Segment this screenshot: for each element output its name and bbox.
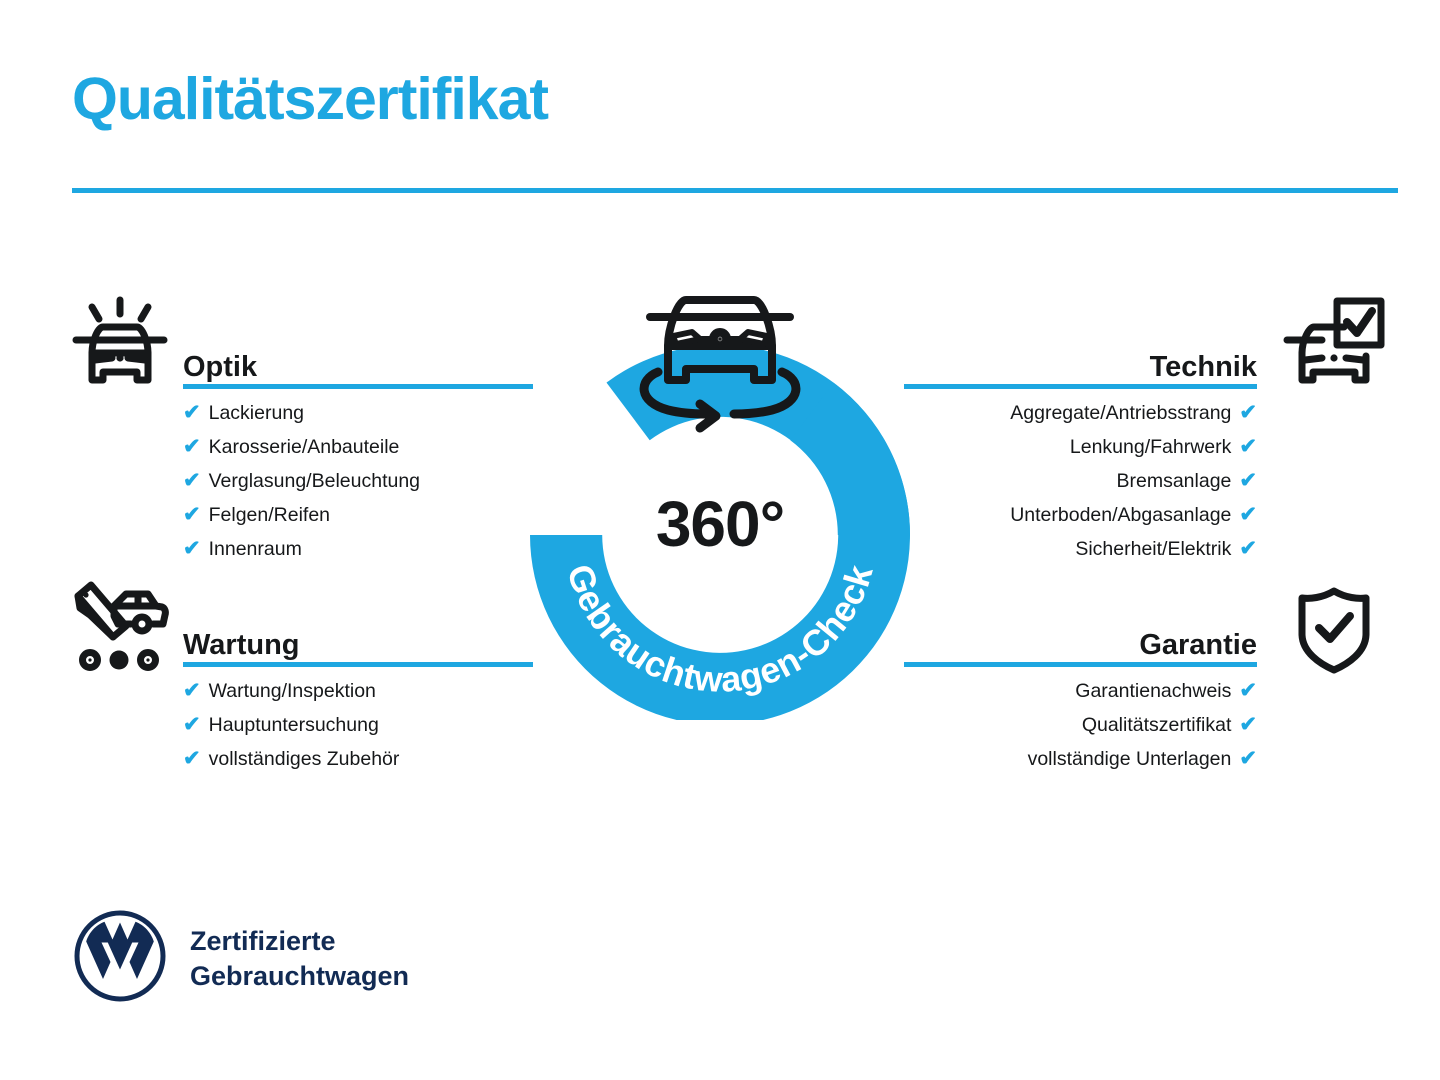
page-title: Qualitätszertifikat	[72, 70, 548, 129]
list-item-label: Hauptuntersuchung	[209, 714, 379, 737]
list-item: ✔Lackierung	[183, 402, 543, 436]
list-item: ✔Karosserie/Anbauteile	[183, 436, 543, 470]
car-service-pencil-icon	[68, 580, 172, 672]
list-item-label: Lackierung	[209, 402, 304, 425]
list-item: Bremsanlage✔	[897, 470, 1257, 504]
section-wartung: Wartung ✔Wartung/Inspektion ✔Hauptunters…	[183, 614, 543, 660]
list-item: Unterboden/Abgasanlage✔	[897, 504, 1257, 538]
list-item-label: vollständige Unterlagen	[1028, 748, 1232, 771]
list-item-label: Qualitätszertifikat	[1082, 714, 1232, 737]
list-item: Lenkung/Fahrwerk✔	[897, 436, 1257, 470]
list-item-label: Karosserie/Anbauteile	[209, 436, 400, 459]
check-icon: ✔	[183, 714, 201, 735]
section-garantie: Garantie Garantienachweis✔ Qualitätszert…	[897, 614, 1257, 660]
section-optik-title: Optik	[183, 353, 257, 382]
check-icon: ✔	[183, 504, 201, 525]
section-wartung-divider	[183, 662, 533, 667]
section-garantie-header: Garantie	[897, 614, 1257, 660]
check-icon: ✔	[1239, 504, 1257, 525]
footer-line-1: Zertifizierte	[190, 926, 336, 956]
list-item: Sicherheit/Elektrik✔	[897, 538, 1257, 572]
certificate-page: Qualitätszertifikat Optik ✔Lackierung ✔K…	[0, 0, 1440, 1080]
list-item-label: Garantienachweis	[1075, 680, 1231, 703]
list-item: Qualitätszertifikat✔	[897, 714, 1257, 748]
footer-brand-text: Zertifizierte Gebrauchtwagen	[190, 924, 409, 992]
check-icon: ✔	[1239, 748, 1257, 769]
section-garantie-divider	[904, 662, 1257, 667]
check-icon: ✔	[1239, 402, 1257, 423]
list-item: ✔vollständiges Zubehör	[183, 748, 543, 782]
check-icon: ✔	[183, 748, 201, 769]
list-item-label: vollständiges Zubehör	[209, 748, 400, 771]
list-item: ✔Wartung/Inspektion	[183, 680, 543, 714]
check-icon: ✔	[1239, 714, 1257, 735]
section-technik-divider	[904, 384, 1257, 389]
check-icon: ✔	[1239, 538, 1257, 559]
section-optik-list: ✔Lackierung ✔Karosserie/Anbauteile ✔Verg…	[183, 402, 543, 572]
check-icon: ✔	[183, 680, 201, 701]
section-garantie-list: Garantienachweis✔ Qualitätszertifikat✔ v…	[897, 680, 1257, 782]
list-item-label: Felgen/Reifen	[209, 504, 330, 527]
list-item-label: Wartung/Inspektion	[209, 680, 376, 703]
list-item: Garantienachweis✔	[897, 680, 1257, 714]
list-item-label: Lenkung/Fahrwerk	[1070, 436, 1232, 459]
section-optik-header: Optik	[183, 336, 543, 382]
list-item: Aggregate/Antriebsstrang✔	[897, 402, 1257, 436]
section-optik: Optik ✔Lackierung ✔Karosserie/Anbauteile…	[183, 336, 543, 382]
title-divider	[72, 188, 1398, 193]
list-item-label: Aggregate/Antriebsstrang	[1010, 402, 1231, 425]
check-icon: ✔	[1239, 470, 1257, 491]
footer-line-2: Gebrauchtwagen	[190, 961, 409, 991]
car-shine-icon	[68, 296, 172, 392]
list-item-label: Innenraum	[209, 538, 302, 561]
section-technik-title: Technik	[1150, 353, 1257, 382]
list-item: ✔Hauptuntersuchung	[183, 714, 543, 748]
list-item-label: Bremsanlage	[1116, 470, 1231, 493]
car-checkbox-icon	[1282, 296, 1386, 392]
badge-360-check: Gebrauchtwagen-Check 360°	[505, 270, 935, 720]
section-technik-list: Aggregate/Antriebsstrang✔ Lenkung/Fahrwe…	[897, 402, 1257, 572]
shield-check-icon	[1296, 586, 1372, 674]
check-icon: ✔	[1239, 680, 1257, 701]
footer-brand: Zertifizierte Gebrauchtwagen	[72, 908, 409, 1009]
list-item-label: Sicherheit/Elektrik	[1075, 538, 1231, 561]
check-icon: ✔	[183, 538, 201, 559]
section-optik-divider	[183, 384, 533, 389]
check-icon: ✔	[183, 470, 201, 491]
list-item-label: Unterboden/Abgasanlage	[1010, 504, 1231, 527]
check-icon: ✔	[183, 402, 201, 423]
badge-center-value: 360°	[505, 492, 935, 556]
section-wartung-list: ✔Wartung/Inspektion ✔Hauptuntersuchung ✔…	[183, 680, 543, 782]
check-icon: ✔	[183, 436, 201, 457]
list-item-label: Verglasung/Beleuchtung	[209, 470, 420, 493]
list-item: ✔Felgen/Reifen	[183, 504, 543, 538]
section-garantie-title: Garantie	[1139, 631, 1257, 660]
section-wartung-header: Wartung	[183, 614, 543, 660]
list-item: vollständige Unterlagen✔	[897, 748, 1257, 782]
section-technik: Technik Aggregate/Antriebsstrang✔ Lenkun…	[897, 336, 1257, 382]
list-item: ✔Innenraum	[183, 538, 543, 572]
section-wartung-title: Wartung	[183, 631, 300, 660]
vw-logo-icon	[72, 908, 168, 1009]
list-item: ✔Verglasung/Beleuchtung	[183, 470, 543, 504]
check-icon: ✔	[1239, 436, 1257, 457]
section-technik-header: Technik	[897, 336, 1257, 382]
